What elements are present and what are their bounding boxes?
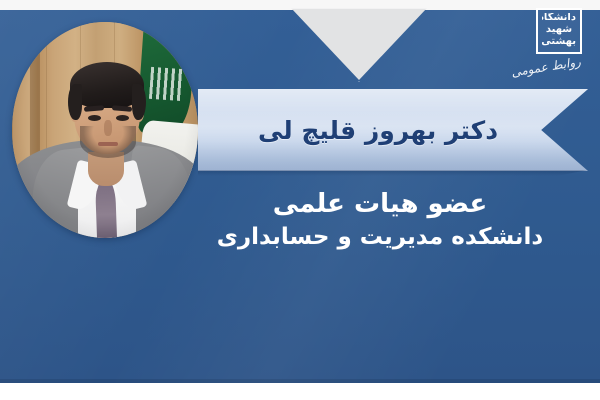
person-role: عضو هیات علمی [200, 188, 560, 221]
subtitle-block: عضو هیات علمی دانشکده مدیریت و حسابداری [200, 188, 560, 253]
photo-nose [104, 120, 112, 136]
photo-eye-right [116, 115, 129, 121]
public-relations-label: روابط عمومی [496, 43, 596, 92]
photo-eye-left [88, 115, 101, 121]
avatar [12, 22, 198, 238]
photo-hair-right-side [132, 84, 146, 120]
iran-flag-script-marks [149, 67, 185, 101]
university-logo-line-2: شهید [542, 25, 576, 35]
university-logo: دانشگاه شهید بهشتی روابط عمومی [498, 6, 594, 92]
photo-mouth [98, 142, 118, 146]
photo-shirt-placket [95, 180, 117, 238]
person-department: دانشکده مدیریت و حسابداری [200, 223, 560, 253]
university-logo-line-1: دانشگاه [542, 13, 576, 23]
profile-card: دکتر بهروز قلیچ لی عضو هیات علمی دانشکده… [0, 0, 600, 400]
photo-hair-left-side [68, 84, 82, 120]
person-name: دکتر بهروز قلیچ لی [198, 89, 558, 171]
